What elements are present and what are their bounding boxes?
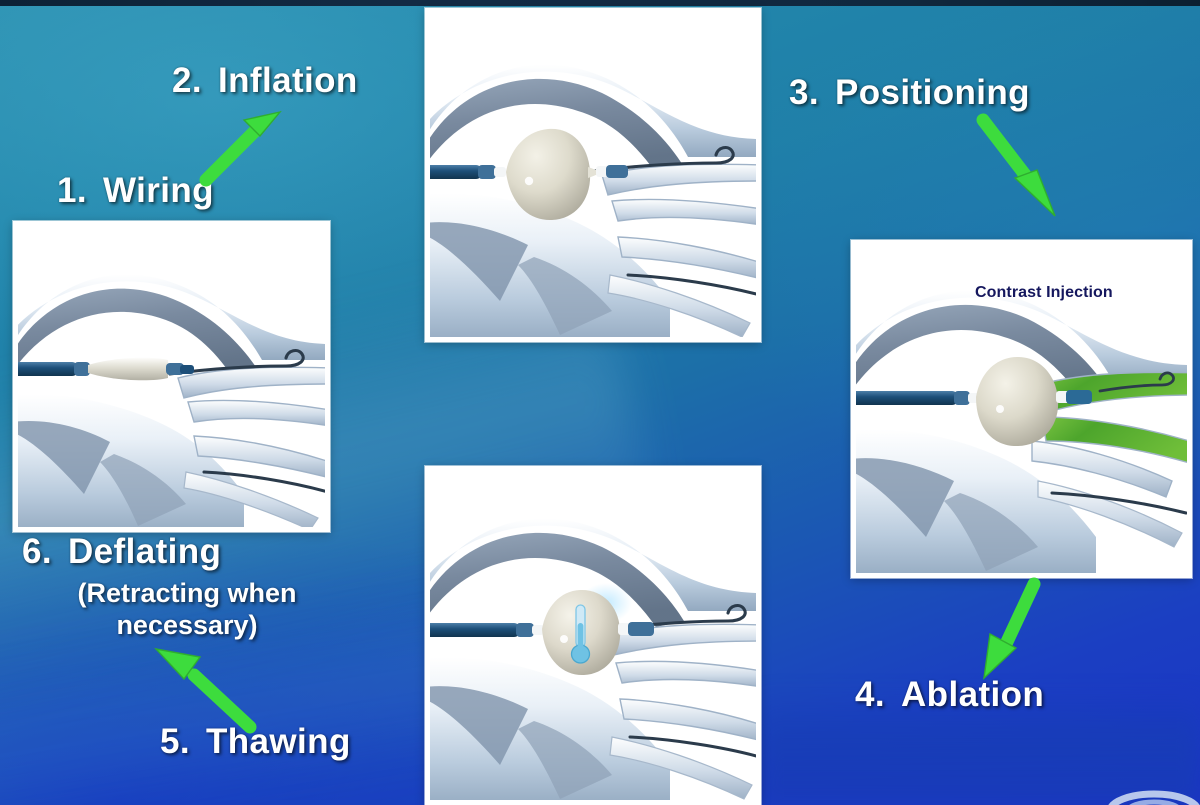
step-number-1: 1. bbox=[57, 171, 87, 210]
step-label-wiring: 1.Wiring bbox=[57, 172, 214, 209]
step-label-positioning: 3.Positioning bbox=[789, 74, 1030, 111]
step-title-2: Inflation bbox=[218, 61, 358, 100]
arrow-wiring-to-inflation bbox=[198, 108, 288, 188]
step-number-2: 2. bbox=[172, 61, 202, 100]
figure-canvas: Contrast Injection 1.Wiring 2.Inflation … bbox=[0, 0, 1200, 805]
step-label-inflation: 2.Inflation bbox=[172, 62, 358, 99]
arrow-panel-to-ablation bbox=[968, 578, 1058, 683]
illustration-panel-inflation bbox=[425, 8, 761, 342]
step-label-deflating: 6.Deflating bbox=[22, 533, 221, 570]
arrow-thawing-to-deflating bbox=[148, 645, 263, 735]
step-title-6: Deflating bbox=[68, 532, 221, 571]
illustration-panel-wiring bbox=[13, 221, 330, 532]
step-title-3: Positioning bbox=[835, 73, 1030, 112]
contrast-injection-caption: Contrast Injection bbox=[975, 284, 1113, 302]
anatomy-artwork-wiring bbox=[18, 226, 325, 527]
step-number-4: 4. bbox=[855, 675, 885, 714]
top-edge-strip bbox=[0, 0, 1200, 6]
anatomy-artwork-thawing bbox=[430, 471, 756, 800]
anatomy-artwork-inflation bbox=[430, 13, 756, 337]
step-label-deflating-subtitle: (Retracting when necessary) bbox=[22, 578, 352, 642]
illustration-panel-thawing bbox=[425, 466, 761, 805]
arrow-positioning-to-panel bbox=[975, 112, 1070, 222]
step-number-3: 3. bbox=[789, 73, 819, 112]
step-number-6: 6. bbox=[22, 532, 52, 571]
